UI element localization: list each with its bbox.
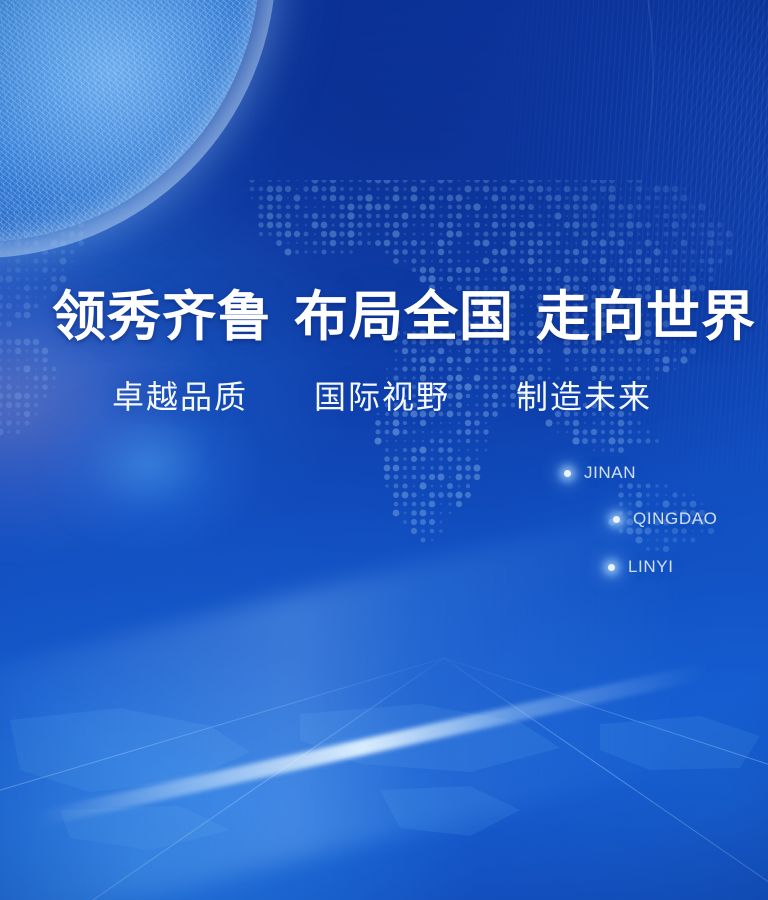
page-subtitle: 卓越品质国际视野制造未来 — [112, 372, 652, 418]
headline-segment-3: 走向世界 — [536, 287, 756, 347]
subtitle-segment-2: 国际视野 — [314, 379, 450, 415]
subtitle-segment-1: 卓越品质 — [112, 379, 248, 415]
city-marker-linyi[interactable]: LINYI — [608, 557, 674, 577]
city-label: LINYI — [628, 557, 674, 577]
page-title: 领秀齐鲁布局全国走向世界 — [52, 272, 756, 351]
subtitle-segment-3: 制造未来 — [516, 379, 652, 415]
city-label: QINGDAO — [633, 509, 718, 529]
headline-segment-1: 领秀齐鲁 — [52, 287, 272, 347]
hero-banner: 领秀齐鲁布局全国走向世界 卓越品质国际视野制造未来 JINAN QINGDAO … — [0, 0, 768, 900]
city-marker-jinan[interactable]: JINAN — [564, 463, 636, 483]
location-dot-icon — [613, 516, 620, 523]
location-dot-icon — [608, 564, 615, 571]
location-dot-icon — [564, 470, 571, 477]
city-marker-qingdao[interactable]: QINGDAO — [613, 509, 718, 529]
city-label: JINAN — [584, 463, 636, 483]
headline-segment-2: 布局全国 — [294, 287, 514, 347]
